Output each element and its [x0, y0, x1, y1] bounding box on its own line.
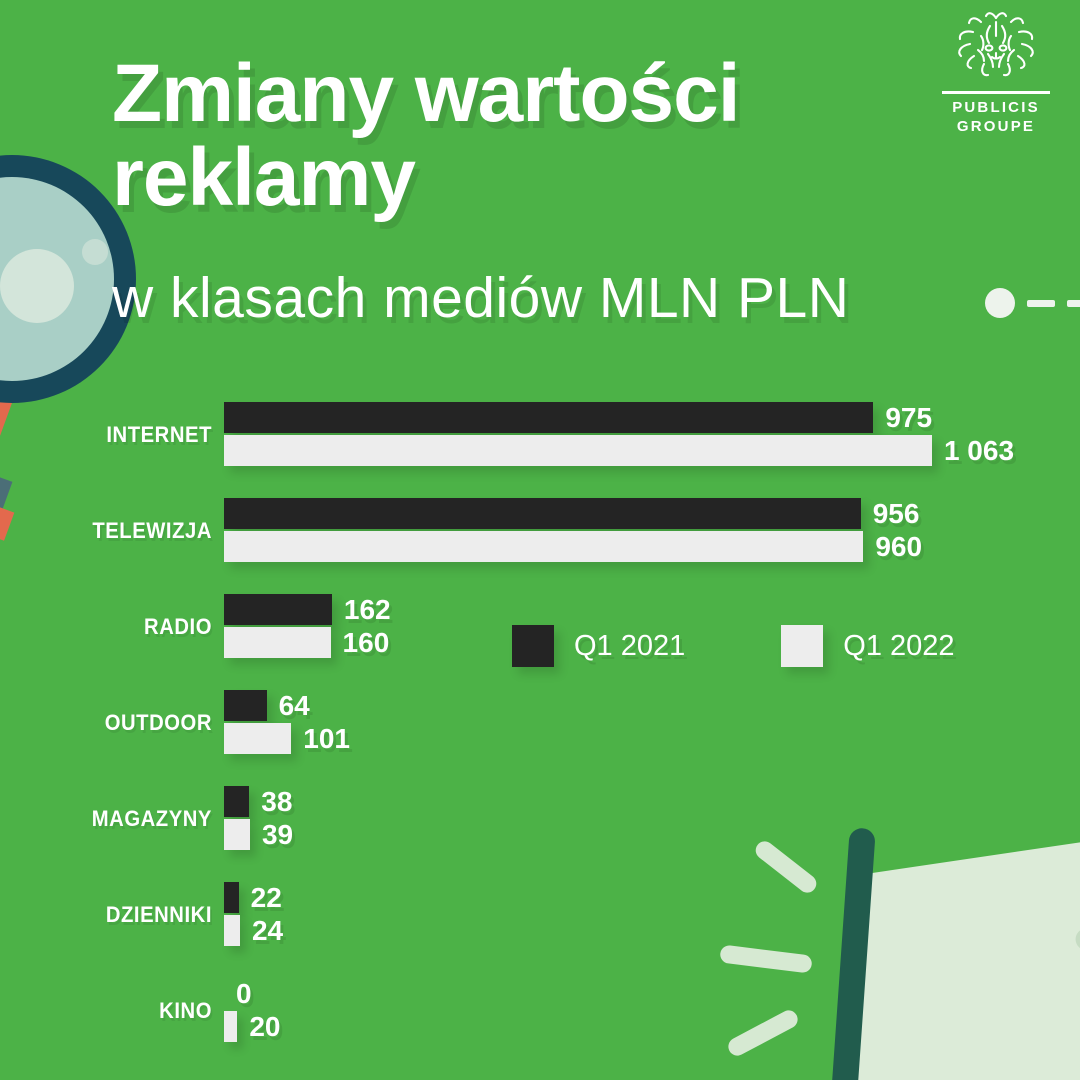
logo-name-line-2: GROUPE: [936, 117, 1056, 136]
bar-value-label: 160: [343, 627, 390, 659]
bar-value-label: 38: [261, 786, 292, 818]
bar-fill: [224, 1011, 237, 1042]
category-label: KINO: [17, 998, 212, 1024]
chart-row: TELEWIZJA956960: [0, 488, 1080, 584]
legend-item-q1-2021: Q1 2021: [512, 625, 685, 667]
bar-value-label: 64: [279, 690, 310, 722]
category-label: TELEWIZJA: [17, 518, 212, 544]
page-title: Zmiany wartości reklamy: [112, 52, 932, 220]
bar-fill: [224, 819, 250, 850]
bar-value-label: 22: [251, 882, 282, 914]
bar-fill: [224, 531, 863, 562]
bar-value-label: 101: [303, 723, 350, 755]
chart-row: OUTDOOR64101: [0, 680, 1080, 776]
legend-label: Q1 2022: [843, 630, 954, 663]
magnifier-glint-small: [82, 239, 108, 265]
bar-value-label: 39: [262, 819, 293, 851]
marker-dot: [985, 288, 1015, 318]
bar-value-label: 20: [249, 1011, 280, 1043]
chart-row: INTERNET9751 063: [0, 392, 1080, 488]
magnifier-lens: [0, 177, 114, 381]
bar-fill: [224, 402, 873, 433]
media-value-bar-chart: INTERNET9751 063TELEWIZJA956960RADIO1621…: [0, 392, 1080, 1064]
category-label: RADIO: [17, 614, 212, 640]
category-label: MAGAZYNY: [17, 806, 212, 832]
bar-value-label: 975: [885, 402, 932, 434]
chart-legend: Q1 2021Q1 2022: [512, 625, 955, 667]
chart-row: KINO020: [0, 968, 1080, 1064]
chart-row: MAGAZYNY3839: [0, 776, 1080, 872]
marker-dash-1: [1027, 300, 1055, 307]
bar-value-label: 162: [344, 594, 391, 626]
bar-value-label: 24: [252, 915, 283, 947]
lion-sun-icon: [948, 10, 1044, 88]
legend-item-q1-2022: Q1 2022: [781, 625, 954, 667]
publicis-groupe-logo: PUBLICIS GROUPE: [936, 10, 1056, 136]
bar-value-label: 956: [873, 498, 920, 530]
bar-fill: [224, 627, 331, 658]
chart-row: DZIENNIKI2224: [0, 872, 1080, 968]
title-line-1: Zmiany wartości: [112, 52, 932, 136]
bar-fill: [224, 882, 239, 913]
legend-swatch: [781, 625, 823, 667]
legend-label: Q1 2021: [574, 630, 685, 663]
logo-divider: [942, 91, 1050, 94]
logo-name-line-1: PUBLICIS: [936, 98, 1056, 117]
bar-value-label: 0: [236, 978, 252, 1010]
category-label: INTERNET: [17, 422, 212, 448]
bar-fill: [224, 690, 267, 721]
marker-dash-2: [1067, 300, 1080, 307]
bar-fill: [224, 723, 291, 754]
legend-swatch: [512, 625, 554, 667]
dot-dash-marker-icon: [985, 288, 1080, 318]
bar-value-label: 960: [875, 531, 922, 563]
bar-fill: [224, 915, 240, 946]
category-label: DZIENNIKI: [17, 902, 212, 928]
bar-fill: [224, 498, 861, 529]
bar-fill: [224, 786, 249, 817]
page-subtitle: w klasach mediów MLN PLN: [112, 268, 849, 328]
bar-fill: [224, 435, 932, 466]
bar-fill: [224, 594, 332, 625]
bar-value-label: 1 063: [944, 435, 1014, 467]
infographic-canvas: PUBLICIS GROUPE Zmiany wartości reklamy …: [0, 0, 1080, 1080]
title-line-2: reklamy: [112, 136, 932, 220]
category-label: OUTDOOR: [17, 710, 212, 736]
magnifier-glint-large: [0, 249, 74, 323]
